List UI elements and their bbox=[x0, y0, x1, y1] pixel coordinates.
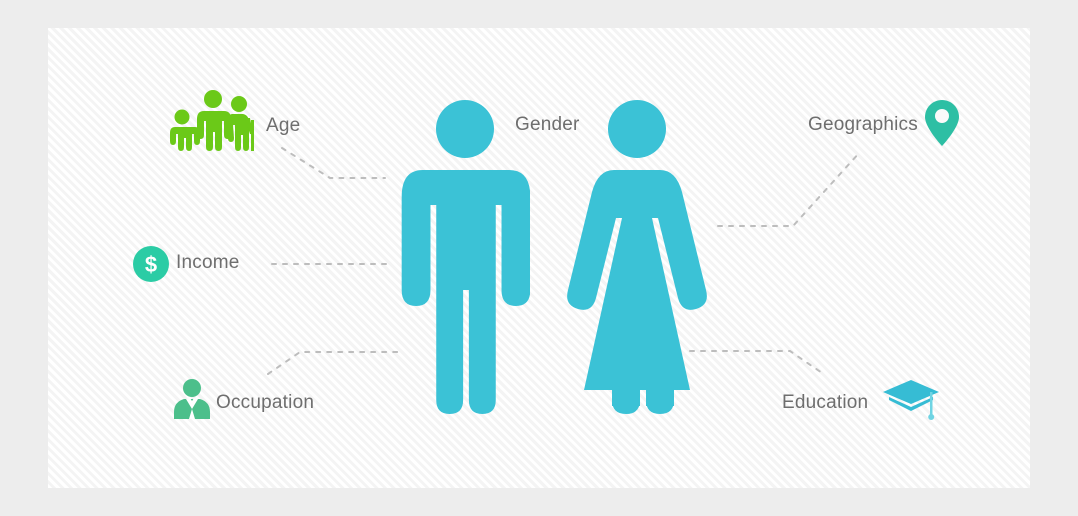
education-label: Education bbox=[782, 392, 868, 414]
three-ages-people-icon bbox=[168, 90, 256, 157]
occupation-label: Occupation bbox=[216, 392, 314, 414]
svg-text:$: $ bbox=[145, 252, 157, 277]
male-pictogram bbox=[400, 100, 530, 418]
age-label: Age bbox=[266, 115, 300, 137]
income-label: Income bbox=[176, 252, 240, 274]
business-person-icon bbox=[172, 378, 212, 425]
graduation-cap-icon bbox=[883, 378, 939, 427]
geographics-label: Geographics bbox=[808, 114, 918, 136]
gender-label: Gender bbox=[515, 114, 580, 136]
dollar-circle-icon: $ bbox=[132, 245, 170, 288]
female-pictogram bbox=[562, 100, 712, 418]
demographics-infographic: Gender Age $ Income bbox=[0, 0, 1078, 516]
map-pin-icon bbox=[925, 100, 959, 151]
